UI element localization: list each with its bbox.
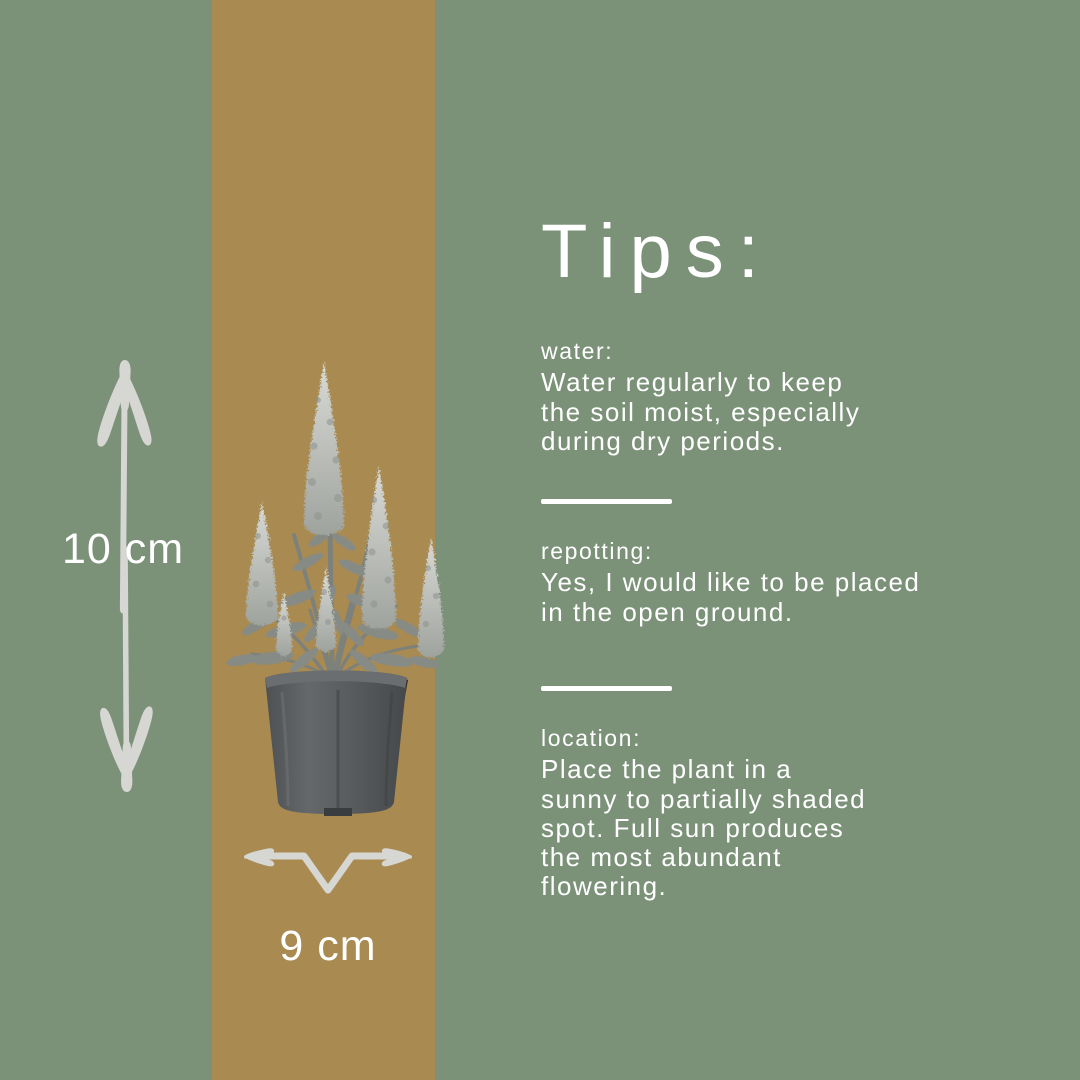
tip-section-repotting: repotting: Yes, I would like to be place… [541, 537, 1011, 627]
tips-panel: Tips: water: Water regularly to keep the… [541, 0, 1011, 1080]
tip-line: Water regularly to keep [541, 368, 1011, 397]
tip-line: spot. Full sun produces [541, 814, 1011, 843]
tip-line: flowering. [541, 872, 1011, 901]
tip-line: the soil moist, especially [541, 398, 1011, 427]
plant-product-photo [212, 330, 462, 820]
section-divider [541, 499, 672, 504]
tip-section-water: water: Water regularly to keep the soil … [541, 337, 1011, 456]
tip-line: during dry periods. [541, 427, 1011, 456]
tip-line: sunny to partially shaded [541, 785, 1011, 814]
height-dimension-arrow-icon [88, 340, 168, 810]
tip-body-location: Place the plant in a sunny to partially … [541, 755, 1011, 901]
tip-line: Place the plant in a [541, 755, 1011, 784]
tip-label-repotting: repotting: [541, 537, 1011, 566]
tip-body-repotting: Yes, I would like to be placed in the op… [541, 568, 1011, 626]
tip-label-water: water: [541, 337, 1011, 366]
section-divider [541, 686, 672, 691]
tip-line: the most abundant [541, 843, 1011, 872]
width-dimension-arrow-icon [238, 840, 418, 900]
tip-body-water: Water regularly to keep the soil moist, … [541, 368, 1011, 455]
width-dimension-label: 9 cm [238, 925, 418, 968]
tip-line: in the open ground. [541, 598, 1011, 627]
tip-section-location: location: Place the plant in a sunny to … [541, 724, 1011, 901]
page-title: Tips: [541, 214, 773, 290]
plant-care-card: 10 cm 9 cm [0, 0, 1080, 1080]
tip-label-location: location: [541, 724, 1011, 753]
height-dimension-label: 10 cm [62, 528, 212, 571]
tip-line: Yes, I would like to be placed [541, 568, 1011, 597]
